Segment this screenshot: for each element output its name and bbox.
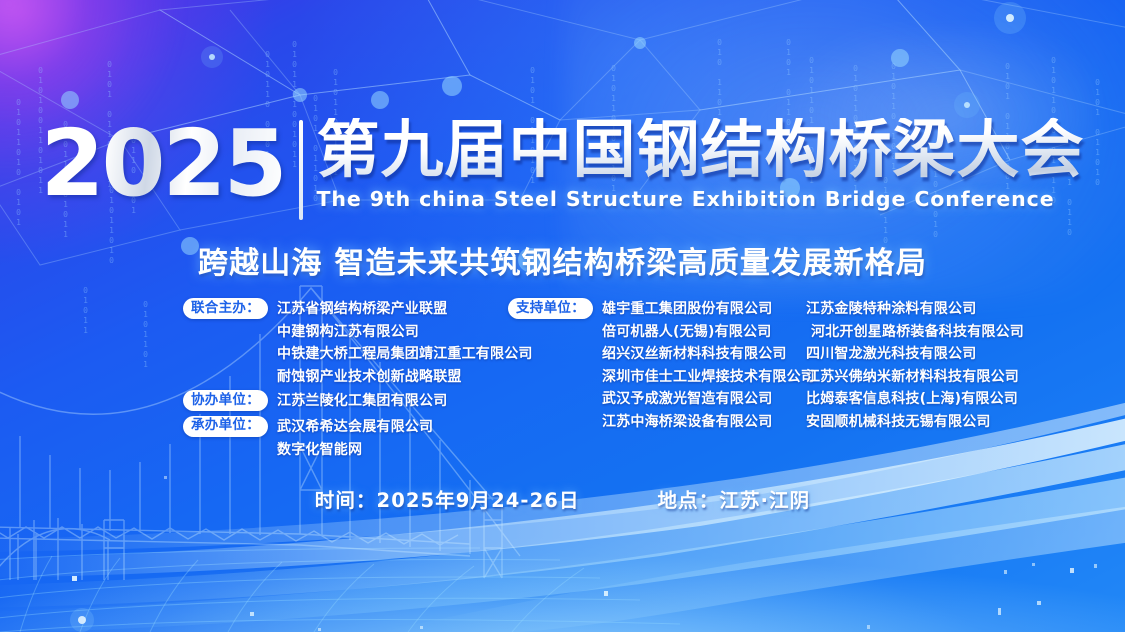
list-item: 比姆泰客信息科技(上海)有限公司 [806,388,1024,411]
list-item: 河北开创星路桥装备科技有限公司 [806,321,1024,344]
list-item: 安固顺机械科技无锡有限公司 [806,411,1024,434]
list-item: 江苏兴佛纳米新材料科技有限公司 [806,366,1024,389]
list-item: 深圳市佳士工业焊接技术有限公司 [602,366,815,389]
list-item: 倍可机器人(无锡)有限公司 [602,321,815,344]
status-badge: 支持单位： [508,298,593,319]
sponsor-group: 协办单位： 江苏兰陵化工集团有限公司 [183,390,503,413]
status-badge: 协办单位： [183,390,268,411]
list-item: 江苏金陵特种涂料有限公司 [806,298,1024,321]
list-item: 江苏中海桥梁设备有限公司 [602,411,815,434]
event-date: 时间：2025年9月24-26日 [315,484,580,513]
list-item: 江苏省钢结构桥梁产业联盟 [277,298,533,321]
sponsor-group: 承办单位： 武汉希希达会展有限公司 数字化智能网 [183,416,503,461]
conference-banner: 01011010 0101 0101001101011 010110 01011… [0,0,1125,632]
banner-header: 2025 第九届中国钢结构桥梁大会 The 9th china Steel St… [0,118,1125,233]
page-title: 第九届中国钢结构桥梁大会 [317,118,1085,182]
sponsor-entry-list: 江苏兰陵化工集团有限公司 [277,390,447,413]
sponsor-entry-list: 江苏省钢结构桥梁产业联盟 中建钢构江苏有限公司 中铁建大桥工程局集团靖江重工有限… [277,298,533,388]
page-subtitle-english: The 9th china Steel Structure Exhibition… [317,187,1085,211]
list-item: 雄宇重工集团股份有限公司 [602,298,815,321]
slogan: 跨越山海 智造未来共筑钢结构桥梁高质量发展新格局 [0,238,1125,282]
list-item: 绍兴汉丝新材料科技有限公司 [602,343,815,366]
sponsor-group: 联合主办： 江苏省钢结构桥梁产业联盟 中建钢构江苏有限公司 中铁建大桥工程局集团… [183,298,503,388]
list-item: 江苏兰陵化工集团有限公司 [277,390,447,413]
sponsor-section: 联合主办： 江苏省钢结构桥梁产业联盟 中建钢构江苏有限公司 中铁建大桥工程局集团… [0,298,1125,448]
status-badge: 承办单位： [183,416,268,437]
event-location: 地点：江苏·江阴 [658,484,811,513]
list-item: 四川智龙激光科技有限公司 [806,343,1024,366]
year-label: 2025 [40,122,284,207]
sponsor-column-supporters: 支持单位： 雄宇重工集团股份有限公司 倍可机器人(无锡)有限公司 绍兴汉丝新材料… [508,298,808,435]
sponsor-column-organizers: 联合主办： 江苏省钢结构桥梁产业联盟 中建钢构江苏有限公司 中铁建大桥工程局集团… [183,298,503,462]
list-item: 数字化智能网 [277,439,433,462]
list-item: 中建钢构江苏有限公司 [277,321,533,344]
list-item: 耐蚀钢产业技术创新战略联盟 [277,366,533,389]
sponsor-group: 支持单位： 雄宇重工集团股份有限公司 倍可机器人(无锡)有限公司 绍兴汉丝新材料… [508,298,808,434]
sponsor-entry-list: 雄宇重工集团股份有限公司 倍可机器人(无锡)有限公司 绍兴汉丝新材料科技有限公司… [602,298,815,434]
event-info-bar: 时间：2025年9月24-26日 地点：江苏·江阴 [0,484,1125,513]
sponsor-entry-list: 江苏金陵特种涂料有限公司 河北开创星路桥装备科技有限公司 四川智龙激光科技有限公… [806,298,1024,434]
list-item: 武汉希希达会展有限公司 [277,416,433,439]
sponsor-column-supporters-continued: 江苏金陵特种涂料有限公司 河北开创星路桥装备科技有限公司 四川智龙激光科技有限公… [806,298,1106,435]
binary-code-decor: 010 1101 [714,38,724,118]
list-item: 中铁建大桥工程局集团靖江重工有限公司 [277,343,533,366]
sponsor-entry-list: 武汉希希达会展有限公司 数字化智能网 [277,416,433,461]
list-item: 武汉予成激光智造有限公司 [602,388,815,411]
status-badge: 联合主办： [183,298,268,319]
sponsor-group: 江苏金陵特种涂料有限公司 河北开创星路桥装备科技有限公司 四川智龙激光科技有限公… [806,298,1106,434]
title-divider [299,120,303,220]
